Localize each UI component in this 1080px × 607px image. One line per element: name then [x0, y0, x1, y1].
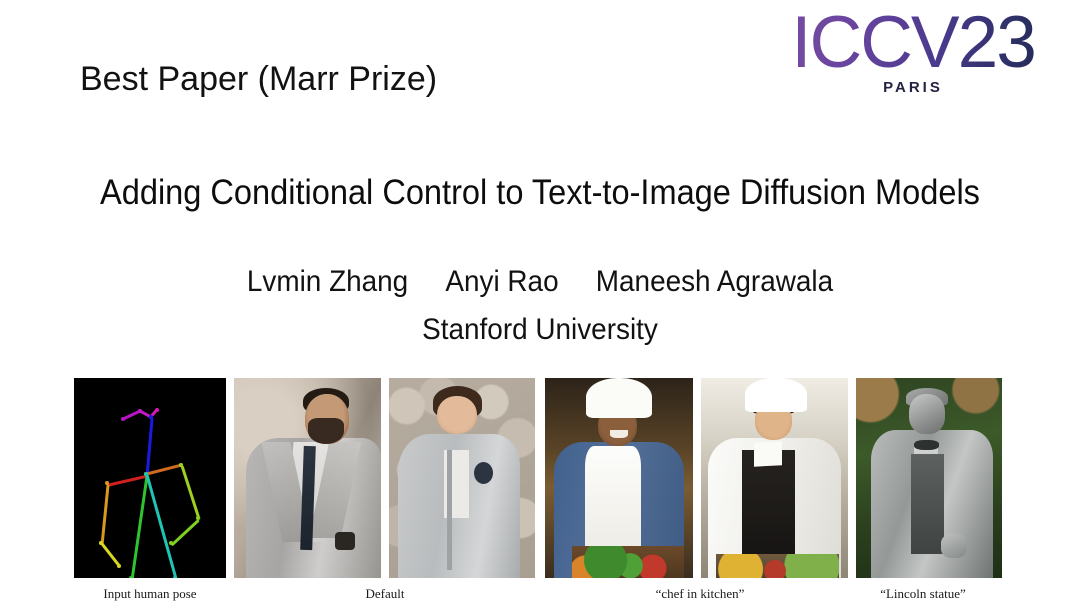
- photo-boy-jacket: [389, 378, 535, 578]
- pose-joint: [105, 481, 109, 485]
- statue-vest: [911, 454, 943, 554]
- pose-bone-shoulder-r: [145, 464, 181, 476]
- jacket-placket: [447, 450, 451, 570]
- figure-caption-row: Input human poseDefault“chef in kitchen”…: [0, 586, 1080, 606]
- photo-lincoln-statue: [856, 378, 1002, 578]
- pose-joint: [196, 516, 200, 520]
- figure-caption: Default: [275, 586, 495, 602]
- page-title: Adding Conditional Control to Text-to-Im…: [38, 173, 1042, 213]
- photo-man-suit: [234, 378, 381, 578]
- pose-bone-upperarm-r: [181, 466, 200, 520]
- wristwatch: [335, 532, 354, 550]
- figure-panel-default-man-suit: [234, 378, 381, 578]
- photo-chef-blue: [545, 378, 693, 578]
- pose-joint: [99, 541, 103, 545]
- author-name: Anyi Rao: [445, 265, 558, 299]
- pose-joint: [155, 408, 159, 412]
- pose-joint: [179, 463, 183, 467]
- figure-panel-chef-in-kitchen-light: [701, 378, 848, 578]
- vegetables: [572, 546, 684, 578]
- pose-bone-leg-right: [146, 475, 177, 578]
- figure-caption: “Lincoln statue”: [813, 586, 1033, 602]
- statue-hand: [941, 534, 967, 558]
- pose-bone-shoulder-l: [107, 475, 147, 487]
- photo-chef-black-apron: [701, 378, 848, 578]
- iccv-wordmark: ICCV23: [768, 8, 1058, 77]
- figure-caption: Input human pose: [40, 586, 260, 602]
- figure-panel-default-boy-jacket: [389, 378, 535, 578]
- author-name: Maneesh Agrawala: [596, 265, 833, 299]
- coat-collar: [754, 441, 782, 466]
- smile: [610, 430, 628, 438]
- face: [437, 396, 476, 434]
- figure-caption: “chef in kitchen”: [590, 586, 810, 602]
- pose-bone-upperarm-l: [101, 484, 110, 544]
- pose-joint: [169, 541, 173, 545]
- pose-joint: [173, 576, 177, 578]
- figure-strip: [74, 378, 1002, 578]
- figure-panel-input-human-pose: [74, 378, 226, 578]
- pose-joint: [144, 472, 148, 476]
- pose-bone-forearm-r: [171, 519, 200, 546]
- pose-bone-leg-left: [131, 475, 149, 578]
- pose-bone-neck: [146, 418, 154, 475]
- pose-joint: [129, 576, 133, 578]
- figure-panel-chef-in-kitchen-dark: [545, 378, 693, 578]
- beard: [308, 418, 345, 444]
- figure-panel-lincoln-statue: [856, 378, 1002, 578]
- plated-food: [716, 554, 839, 578]
- jacket-badge: [474, 462, 493, 484]
- pose-joint: [149, 415, 153, 419]
- author-name: Lvmin Zhang: [247, 265, 408, 299]
- chef-hat: [745, 378, 807, 412]
- pose-joint: [121, 417, 125, 421]
- statue-face: [909, 394, 946, 434]
- award-label: Best Paper (Marr Prize): [80, 60, 437, 99]
- pose-joint: [138, 409, 142, 413]
- affiliation-label: Stanford University: [38, 313, 1042, 347]
- author-list: Lvmin ZhangAnyi RaoManeesh Agrawala: [38, 265, 1042, 299]
- iccv-logo: ICCV23 PARIS: [768, 8, 1058, 96]
- pose-joint: [117, 564, 121, 568]
- statue-bowtie: [914, 440, 939, 450]
- chef-hat: [586, 378, 651, 418]
